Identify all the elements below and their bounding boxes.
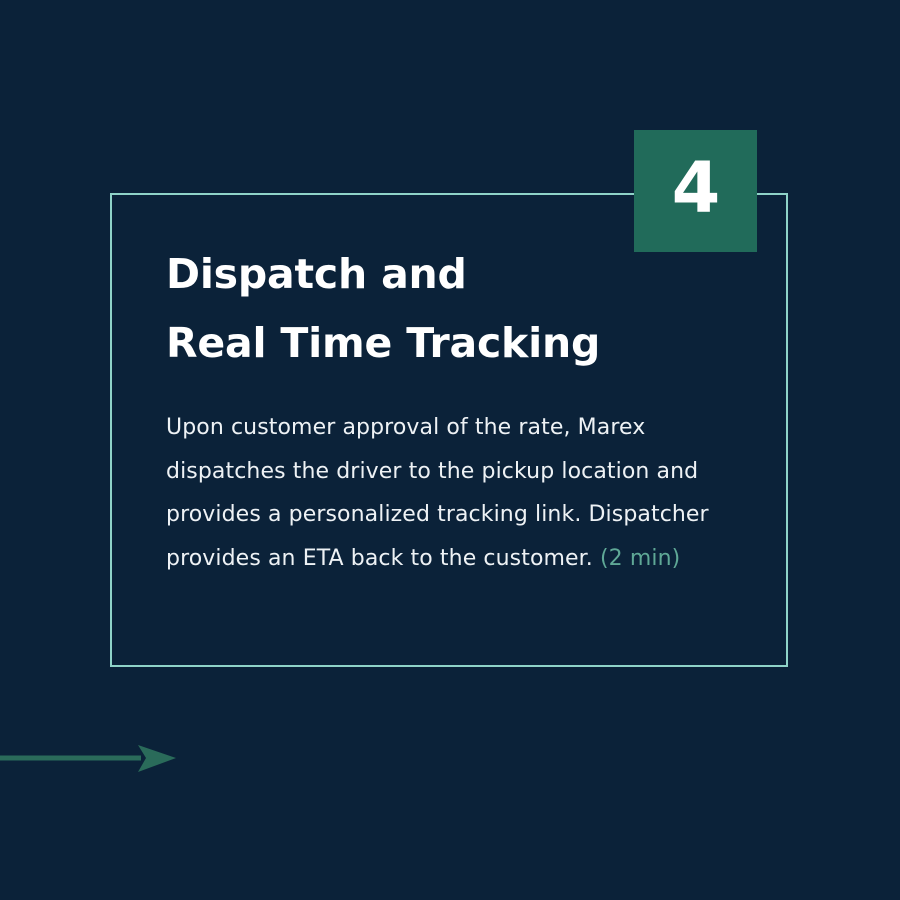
page-title: Dispatch and Real Time Tracking: [166, 240, 726, 378]
slide-canvas: 4 Dispatch and Real Time Tracking Upon c…: [0, 0, 900, 900]
step-description: Upon customer approval of the rate, Mare…: [166, 406, 726, 581]
step-card-content: Dispatch and Real Time Tracking Upon cus…: [166, 240, 726, 581]
step-number-badge: 4: [634, 130, 757, 252]
arrow-right-icon: [0, 735, 180, 783]
step-duration-label: (2 min): [600, 546, 680, 571]
step-number-label: 4: [672, 153, 720, 223]
